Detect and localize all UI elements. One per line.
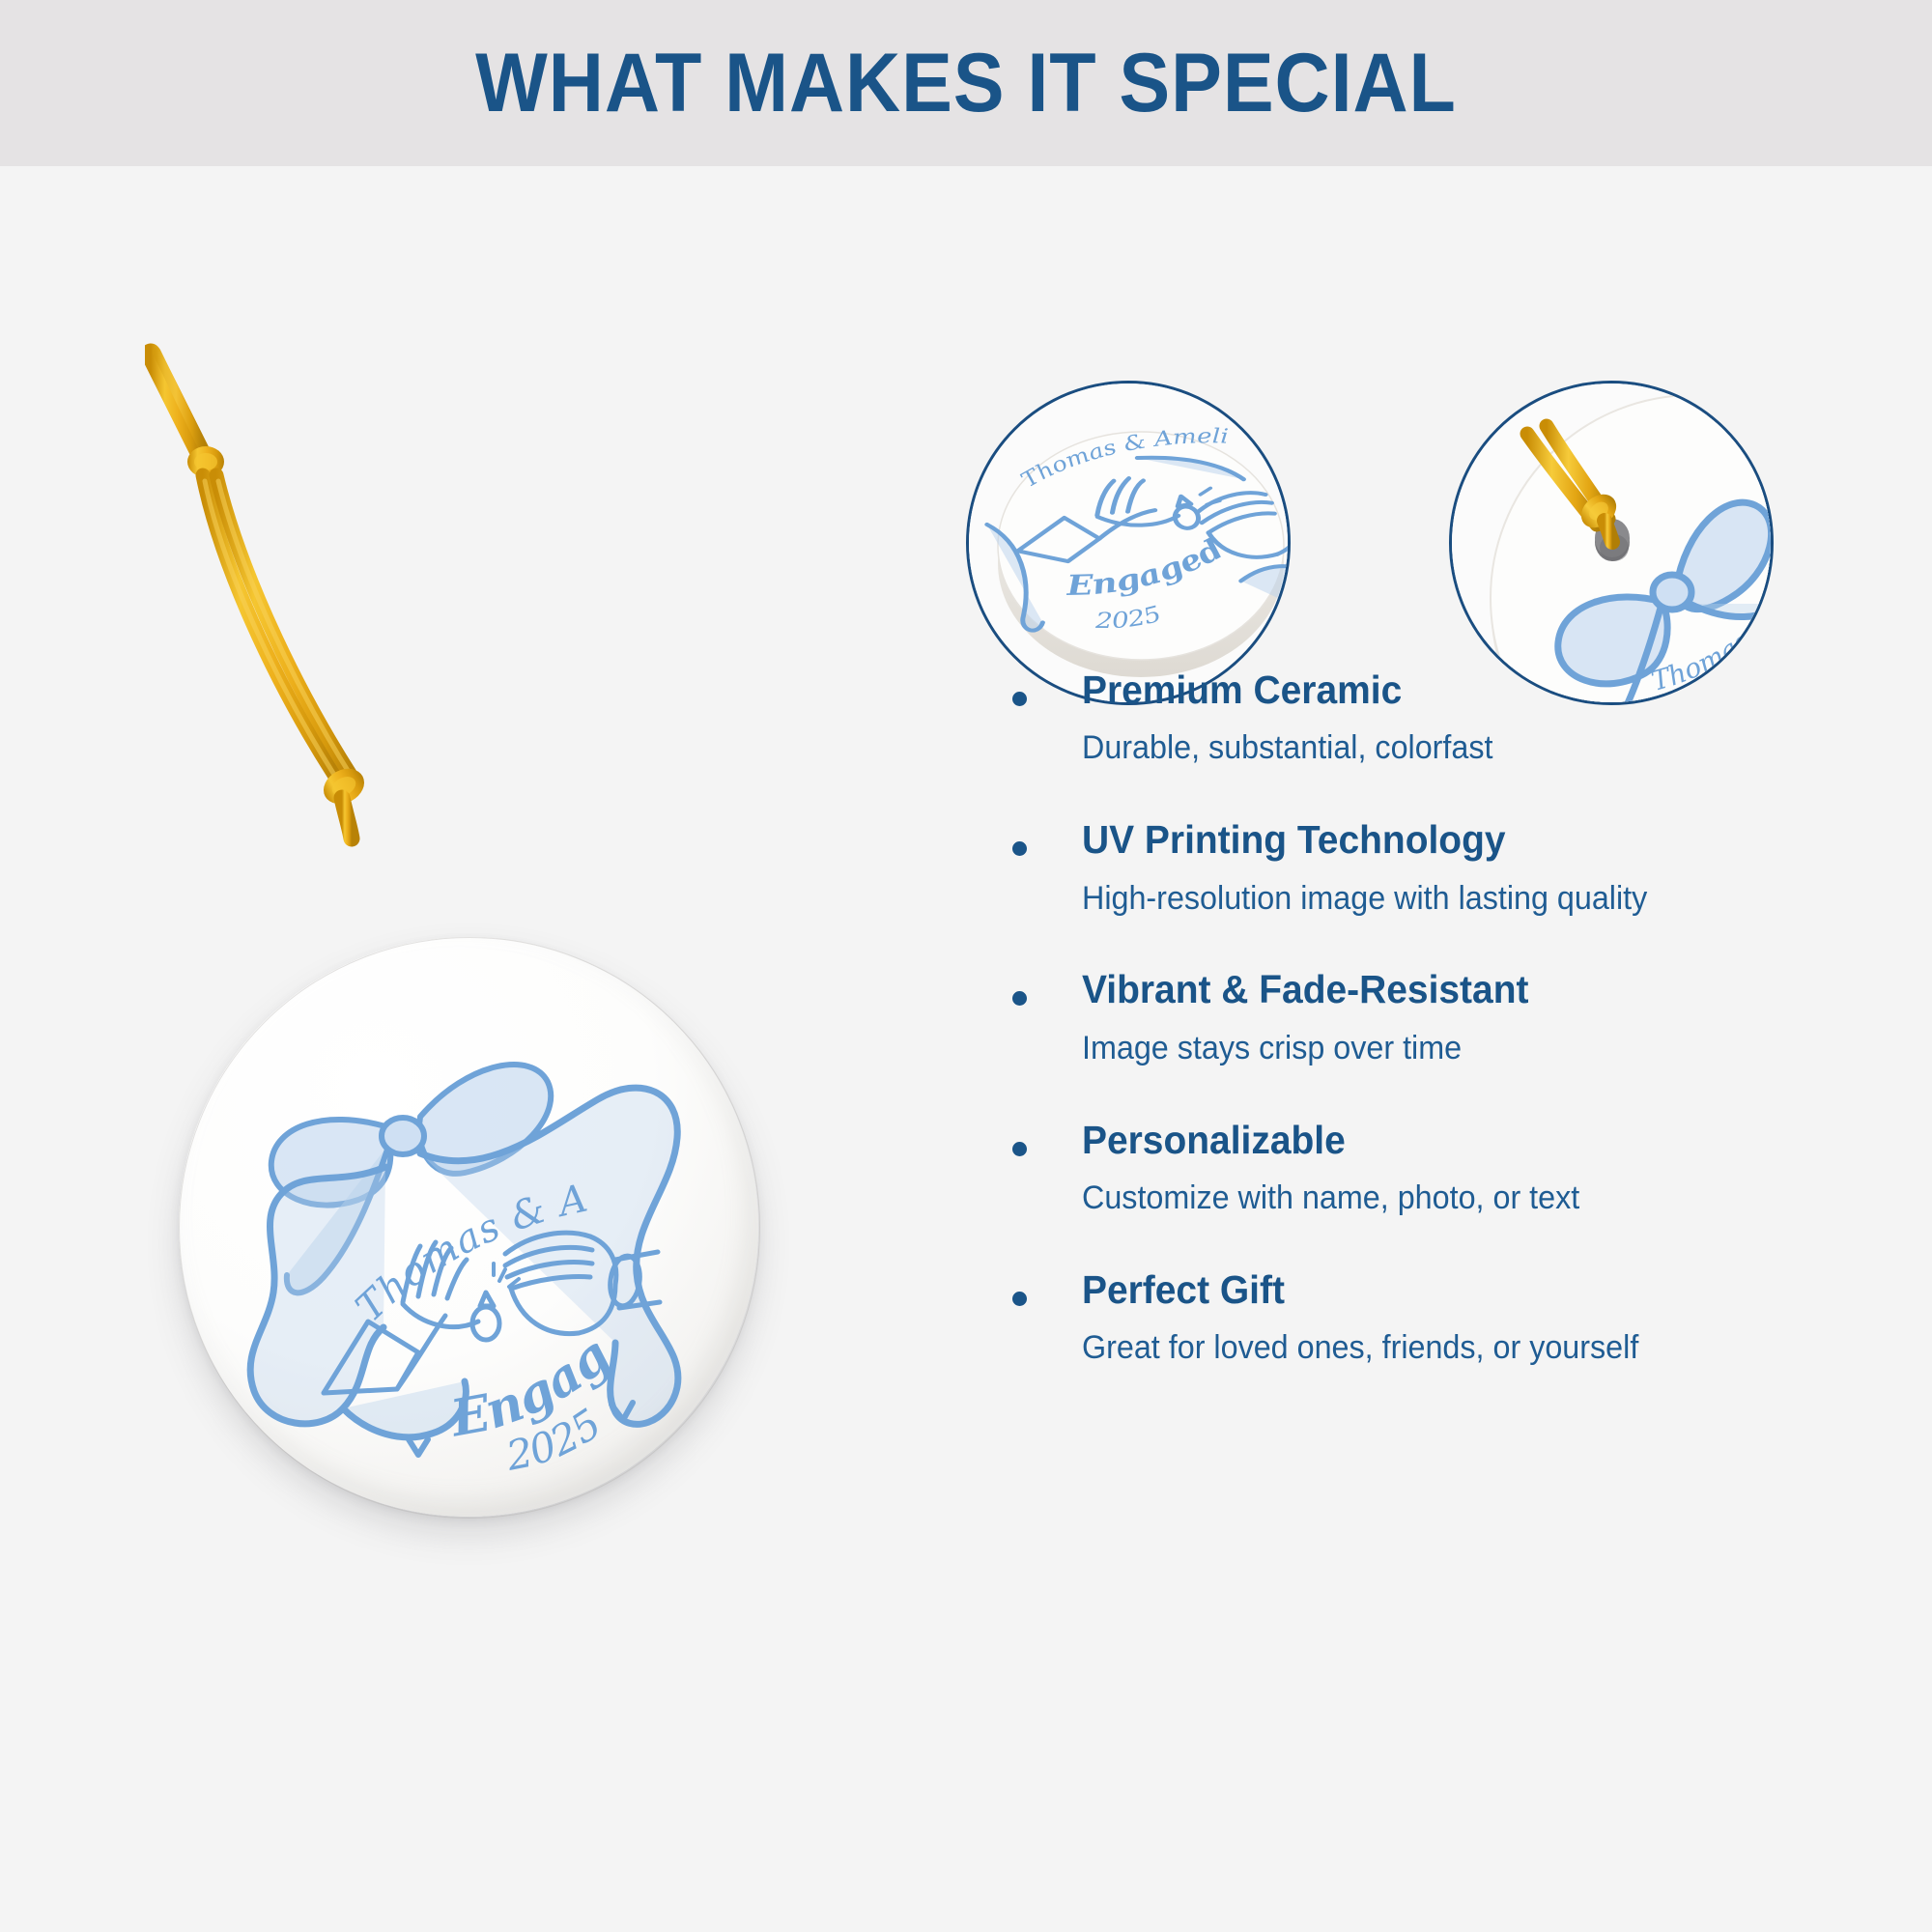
feature-title: UV Printing Technology: [1082, 816, 1871, 863]
feature-item-premium-ceramic: Premium Ceramic Durable, substantial, co…: [985, 667, 1913, 768]
bullet-dot-icon: [1012, 1142, 1027, 1156]
bullet-dot-icon: [1012, 991, 1027, 1006]
feature-description: Image stays crisp over time: [1082, 1029, 1871, 1068]
feature-item-vibrant-fade-resistant: Vibrant & Fade-Resistant Image stays cri…: [985, 966, 1913, 1067]
bullet-dot-icon: [1012, 692, 1027, 706]
hanging-cord: [145, 340, 454, 958]
feature-description: High-resolution image with lasting quali…: [1082, 879, 1871, 919]
ornament-artwork: Thomas & Amelia Engaged 2025: [179, 937, 758, 1517]
content-stage: Thomas & Amelia Engaged 2025: [0, 166, 1932, 1932]
inset-angled-thickness-view: Thomas & Amelia Engaged 2025: [966, 381, 1291, 705]
feature-list: Premium Ceramic Durable, substantial, co…: [985, 667, 1913, 1368]
hero-product-photo: Thomas & Amelia Engaged 2025: [145, 340, 840, 1557]
feature-item-personalizable: Personalizable Customize with name, phot…: [985, 1117, 1913, 1218]
page-title: WHAT MAKES IT SPECIAL: [475, 42, 1457, 125]
feature-description: Durable, substantial, colorfast: [1082, 728, 1871, 768]
bullet-dot-icon: [1012, 1292, 1027, 1306]
feature-description: Customize with name, photo, or text: [1082, 1179, 1871, 1218]
feature-item-uv-printing-technology: UV Printing Technology High-resolution i…: [985, 816, 1913, 918]
inset-angle-art: Thomas & Amelia Engaged 2025: [969, 384, 1288, 702]
feature-item-perfect-gift: Perfect Gift Great for loved ones, frien…: [985, 1266, 1913, 1368]
inset-hole-art: Thomas & Am: [1452, 384, 1771, 702]
ornament-disc: Thomas & Amelia Engaged 2025: [179, 937, 758, 1517]
feature-description: Great for loved ones, friends, or yourse…: [1082, 1328, 1871, 1368]
bullet-dot-icon: [1012, 841, 1027, 856]
header-band: WHAT MAKES IT SPECIAL: [0, 0, 1932, 166]
feature-title: Vibrant & Fade-Resistant: [1082, 966, 1871, 1012]
inset-hanging-hole-closeup: Thomas & Am: [1449, 381, 1774, 705]
feature-title: Perfect Gift: [1082, 1266, 1871, 1313]
feature-title: Premium Ceramic: [1082, 667, 1871, 713]
feature-title: Personalizable: [1082, 1117, 1871, 1163]
